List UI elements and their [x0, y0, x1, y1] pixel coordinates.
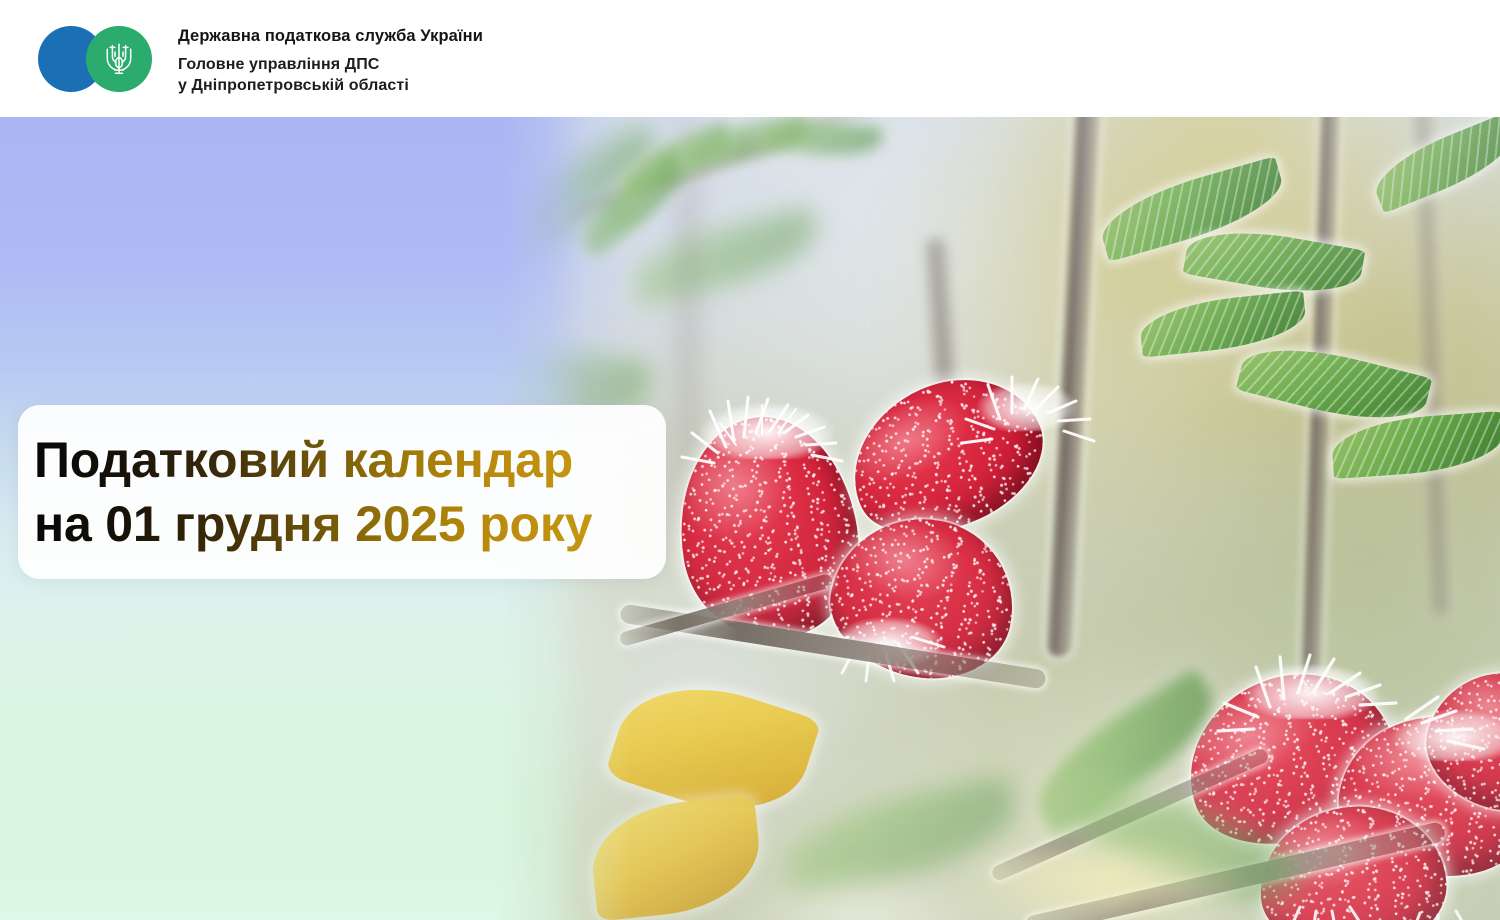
dps-logo [38, 26, 168, 92]
berry-ice-crystals [940, 357, 1120, 467]
berry-ice-crystals [666, 375, 886, 495]
org-title-line-1: Державна податкова служба України [178, 26, 898, 47]
org-title-line-3: у Дніпропетровській області [178, 75, 898, 96]
foreground-bokeh-glow [680, 857, 1040, 920]
title-card: Податковий календар на 01 грудня 2025 ро… [18, 405, 666, 579]
title-line-1: Податковий календар [34, 431, 640, 489]
ukraine-trident-emblem-icon [104, 39, 134, 79]
logo-green-circle-icon [86, 26, 152, 92]
organization-name-block: Державна податкова служба України Головн… [178, 26, 898, 97]
org-title-line-2: Головне управління ДПС [178, 54, 898, 75]
title-line-2: на 01 грудня 2025 року [34, 495, 640, 553]
header-bar: Державна податкова служба України Головн… [0, 0, 1500, 117]
hero-canvas: Податковий календар на 01 грудня 2025 ро… [0, 117, 1500, 920]
poster-root: Державна податкова служба України Головн… [0, 0, 1500, 920]
